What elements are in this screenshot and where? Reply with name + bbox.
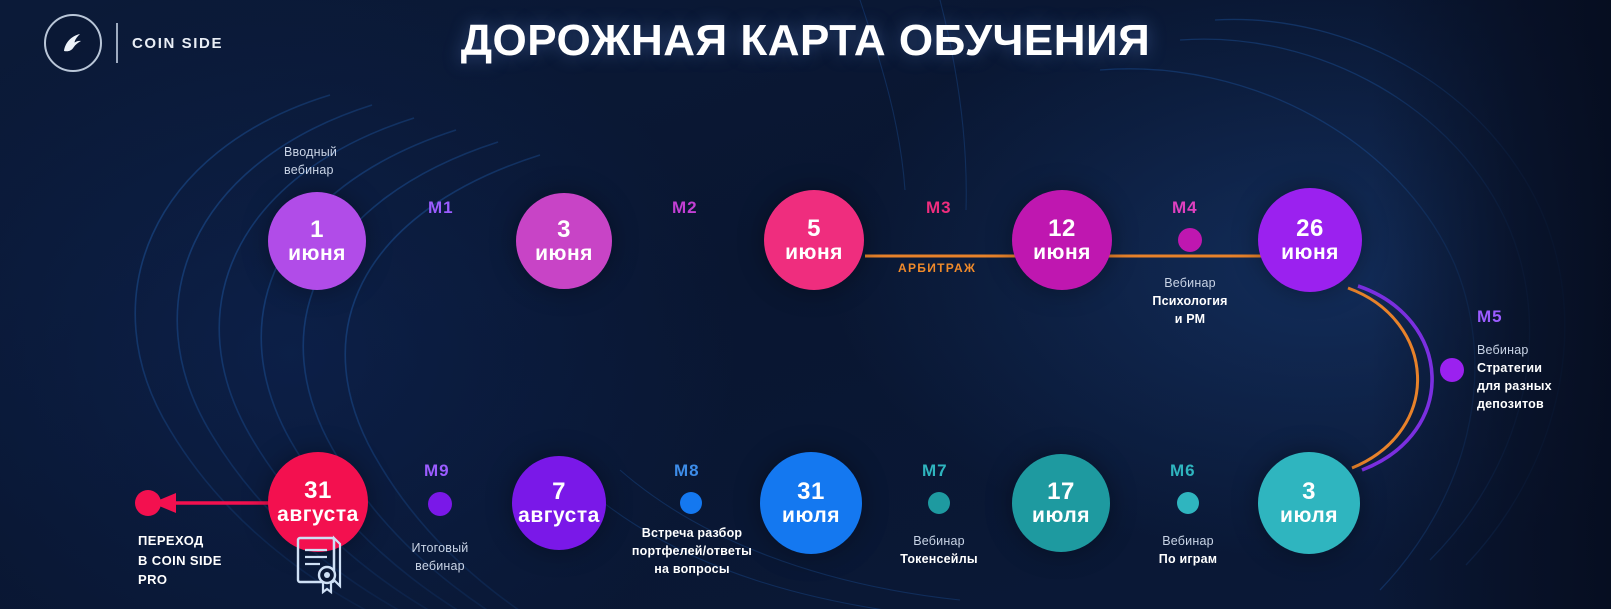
node-3-june[interactable]: 3 июня: [516, 193, 612, 289]
milestone-m7-label: M7: [922, 461, 948, 481]
transition-to-pro-label: ПЕРЕХОД В COIN SIDE PRO: [138, 531, 298, 590]
node-day: 1: [310, 217, 324, 242]
milestone-m5-dot[interactable]: [1440, 358, 1464, 382]
caption-line: Токенсейлы: [869, 550, 1009, 568]
milestone-m5-label: M5: [1477, 307, 1503, 327]
node-month: июня: [535, 243, 593, 265]
milestone-m9-dot[interactable]: [428, 492, 452, 516]
node-26-june[interactable]: 26 июня: [1258, 188, 1362, 292]
intro-webinar-caption: Вводный вебинар: [284, 143, 337, 179]
caption-line: на вопросы: [612, 560, 772, 578]
m9-caption: Итоговый вебинар: [372, 539, 508, 575]
label-line: ПЕРЕХОД: [138, 531, 298, 551]
node-month: августа: [518, 505, 600, 527]
milestone-m4-dot[interactable]: [1178, 228, 1202, 252]
caption-line: депозитов: [1477, 395, 1607, 413]
caption-line: Встреча разбор: [612, 524, 772, 542]
milestone-m3-label: M3: [926, 198, 952, 218]
milestone-m8-label: M8: [674, 461, 700, 481]
node-day: 17: [1047, 479, 1075, 504]
caption-line: вебинар: [284, 161, 337, 179]
node-day: 3: [557, 217, 571, 242]
node-3-july[interactable]: 3 июля: [1258, 452, 1360, 554]
node-1-june[interactable]: 1 июня: [268, 192, 366, 290]
caption-line: вебинар: [372, 557, 508, 575]
node-day: 5: [807, 216, 821, 241]
caption-line: Вебинар: [1118, 532, 1258, 550]
m6-caption: Вебинар По играм: [1118, 532, 1258, 568]
roadmap-page: COIN SIDE ДОРОЖНАЯ КАРТА ОБУЧЕНИЯ: [0, 0, 1611, 609]
node-month: июня: [785, 242, 843, 264]
label-line: В COIN SIDE: [138, 551, 298, 571]
node-month: июля: [1280, 505, 1338, 527]
caption-line: портфелей/ответы: [612, 542, 772, 560]
caption-line: Стратегии: [1477, 359, 1607, 377]
node-day: 26: [1296, 216, 1324, 241]
node-month: августа: [277, 504, 359, 526]
node-5-june[interactable]: 5 июня: [764, 190, 864, 290]
caption-line: Итоговый: [372, 539, 508, 557]
node-day: 12: [1048, 216, 1076, 241]
node-month: июля: [782, 505, 840, 527]
milestone-m4-label: M4: [1172, 198, 1198, 218]
caption-line: Вебинар: [869, 532, 1009, 550]
caption-line: Вебинар: [1120, 274, 1260, 292]
milestone-m2-label: M2: [672, 198, 698, 218]
milestone-m6-label: M6: [1170, 461, 1196, 481]
caption-line: Вебинар: [1477, 341, 1607, 359]
milestone-m7-dot[interactable]: [928, 492, 950, 514]
m8-caption: Встреча разбор портфелей/ответы на вопро…: [612, 524, 772, 578]
caption-line: и РМ: [1120, 310, 1260, 328]
milestone-m8-dot[interactable]: [680, 492, 702, 514]
milestone-m6-dot[interactable]: [1177, 492, 1199, 514]
milestone-m9-label: M9: [424, 461, 450, 481]
caption-line: Вводный: [284, 143, 337, 161]
caption-line: для разных: [1477, 377, 1607, 395]
node-day: 7: [552, 479, 566, 504]
node-7-august[interactable]: 7 августа: [512, 456, 606, 550]
m4-caption: Вебинар Психология и РМ: [1120, 274, 1260, 328]
node-month: июня: [1281, 242, 1339, 264]
node-day: 31: [797, 479, 825, 504]
node-17-july[interactable]: 17 июля: [1012, 454, 1110, 552]
node-31-july[interactable]: 31 июля: [760, 452, 862, 554]
node-month: июня: [1033, 242, 1091, 264]
m5-caption: Вебинар Стратегии для разных депозитов: [1477, 341, 1607, 414]
node-day: 31: [304, 478, 332, 503]
node-month: июня: [288, 243, 346, 265]
node-day: 3: [1302, 479, 1316, 504]
caption-line: По играм: [1118, 550, 1258, 568]
label-line: PRO: [138, 570, 298, 590]
m7-caption: Вебинар Токенсейлы: [869, 532, 1009, 568]
node-12-june[interactable]: 12 июня: [1012, 190, 1112, 290]
certificate-icon: [294, 534, 344, 601]
arbitrage-label: АРБИТРАЖ: [898, 261, 976, 275]
caption-line: Психология: [1120, 292, 1260, 310]
node-month: июля: [1032, 505, 1090, 527]
roadmap: 1 июня 3 июня 5 июня 12 июня 26 июня Вво…: [0, 0, 1611, 609]
milestone-m1-label: M1: [428, 198, 454, 218]
final-endpoint-dot: [135, 490, 161, 516]
